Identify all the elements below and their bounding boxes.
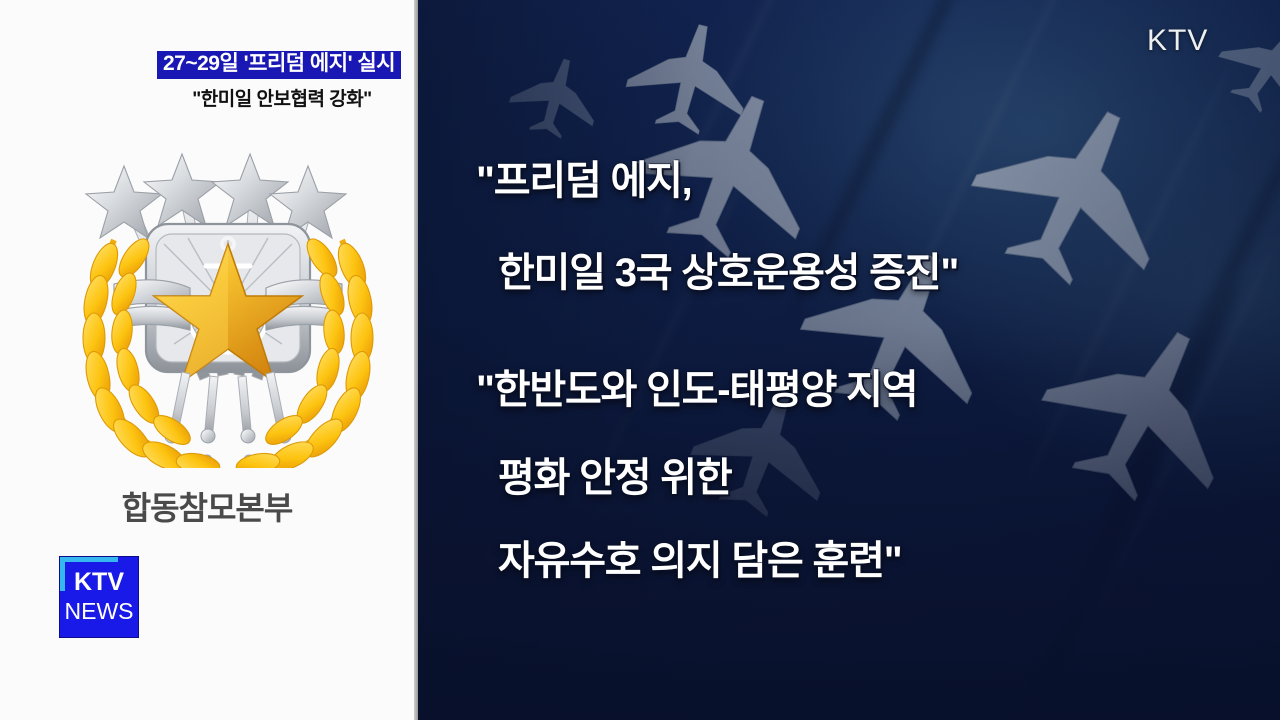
headline-banner: 27~29일 '프리덤 에지' 실시 [157,51,401,79]
left-info-panel: 27~29일 '프리덤 에지' 실시 "한미일 안보협력 강화" [0,0,414,720]
quote-line: "프리덤 에지, [476,148,692,206]
headline-subtitle: "한미일 안보협력 강화" [157,84,407,111]
logo-accent-bar-horizontal [60,557,118,562]
quote-line: 자유수호 의지 담은 훈련" [498,528,902,586]
logo-news-text: NEWS [60,598,138,625]
quote-line: 평화 안정 위한 [498,445,731,503]
organization-name: 합동참모본부 [0,483,414,529]
headline-banner-text: 27~29일 '프리덤 에지' 실시 [163,52,395,75]
broadcast-screen: 27~29일 '프리덤 에지' 실시 "한미일 안보협력 강화" [0,0,1280,720]
ktv-news-logo: KTV NEWS [60,557,138,637]
quote-line: "한반도와 인도-태평양 지역 [476,357,917,415]
logo-ktv-text: KTV [60,568,138,597]
joint-chiefs-of-staff-emblem-icon [78,148,378,468]
quote-overlay: "프리덤 에지, 한미일 3국 상호운용성 증진" "한반도와 인도-태평양 지… [418,0,1280,720]
quote-line: 한미일 3국 상호운용성 증진" [498,240,958,298]
right-video-panel: KTV "프리덤 에지, 한미일 3국 상호운용성 증진" "한반도와 인도-태… [418,0,1280,720]
